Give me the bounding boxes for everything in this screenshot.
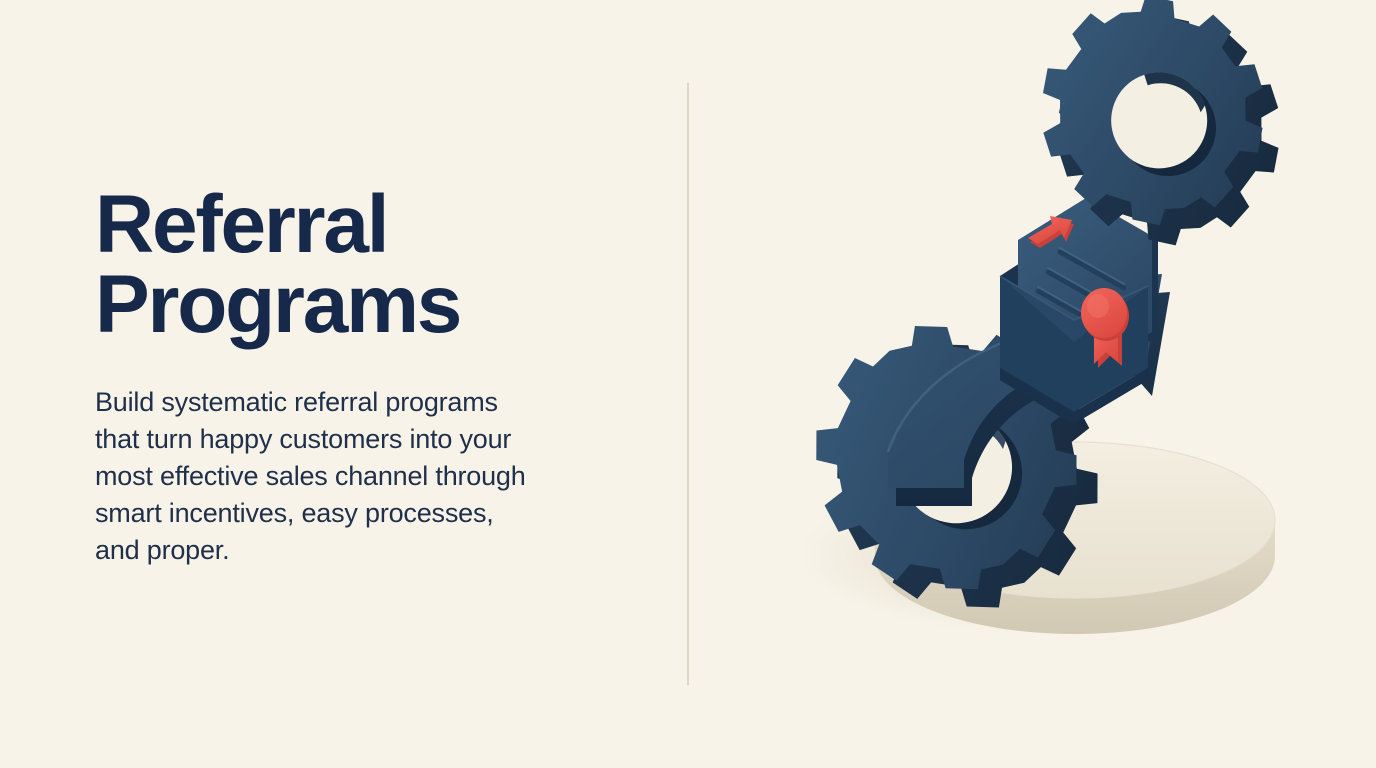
slide-canvas: Referral Programs Build systematic refer… (0, 0, 1376, 768)
illustration-stage (700, 0, 1376, 768)
text-column: Referral Programs Build systematic refer… (95, 185, 625, 569)
vertical-divider (687, 83, 689, 685)
page-description: Build systematic referral programs that … (95, 384, 595, 569)
envelope (1000, 198, 1158, 424)
page-title: Referral Programs (95, 185, 625, 346)
referral-gears-envelope-illustration (700, 0, 1376, 768)
